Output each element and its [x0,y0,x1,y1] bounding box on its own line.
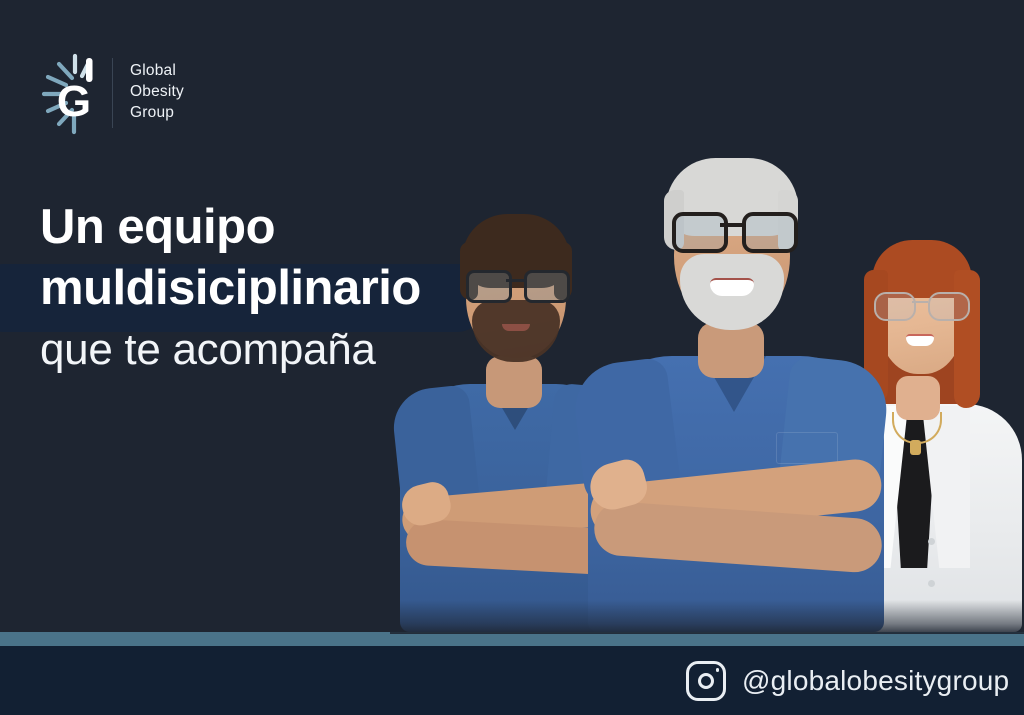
brand-name-line-2: Obesity [130,81,184,102]
left-neck [486,356,542,408]
brand-name-line-3: Group [130,102,184,123]
photo-bottom-fade [390,600,1024,634]
left-beard [472,300,560,362]
person-center-clinician [570,150,900,632]
left-eyeglasses-icon [464,270,568,298]
center-eyeglasses-icon [670,212,794,246]
center-mouth [710,278,754,296]
brand-logo[interactable]: G Global Obesity Group [34,46,234,142]
logo-divider [112,58,113,128]
center-chest-pocket [776,432,838,464]
brand-name: Global Obesity Group [130,60,184,123]
promo-banner: G Global Obesity Group Un equipo muldisi… [0,0,1024,715]
team-photo [390,150,1024,632]
right-mouth [906,334,934,346]
instagram-icon[interactable] [686,661,726,701]
right-hair-side-right [954,270,980,408]
accent-divider-bar [0,632,1024,646]
instagram-handle-text: @globalobesitygroup [742,665,1009,697]
right-coat-button-1 [928,538,935,545]
center-neck [698,322,764,378]
svg-text:G: G [57,77,91,126]
right-coat-button-2 [928,580,935,587]
sunburst-ig-monogram-icon: G [34,48,116,140]
left-mouth [502,324,530,331]
right-pendant [910,440,921,455]
instagram-handle[interactable]: @globalobesitygroup [686,652,1009,710]
brand-name-line-1: Global [130,60,184,81]
